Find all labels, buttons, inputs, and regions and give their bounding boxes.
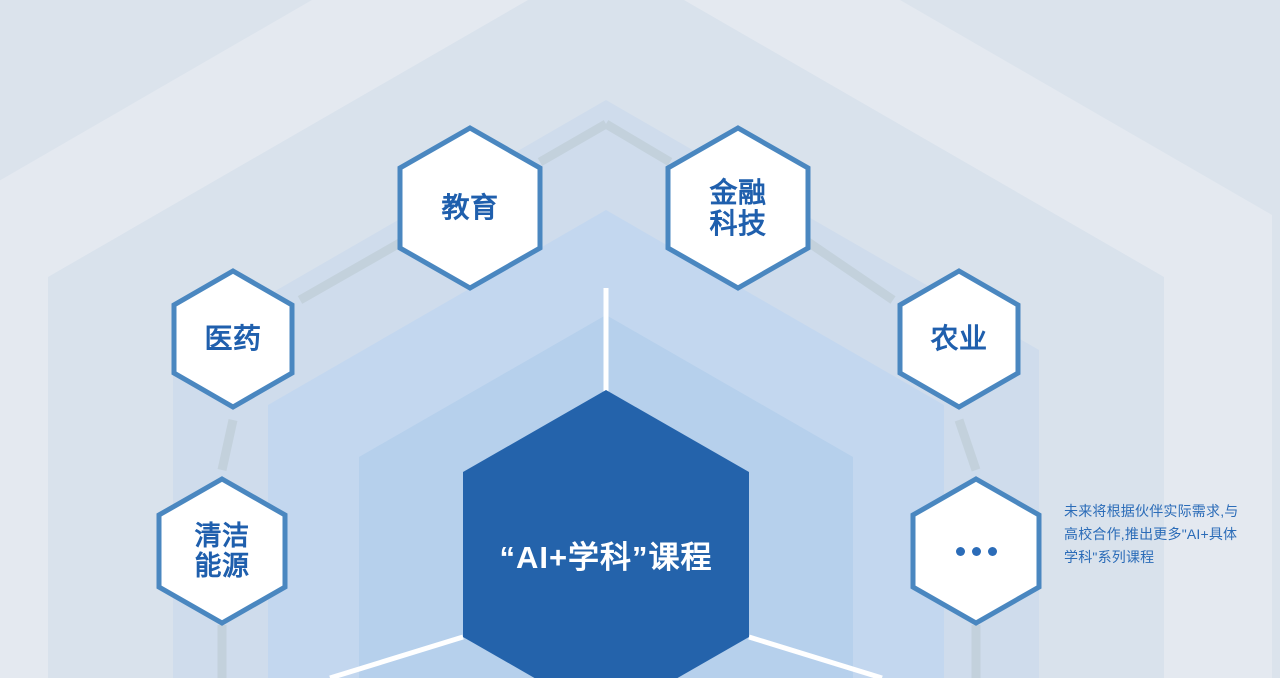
hexagon-label-more-ellipsis bbox=[913, 479, 1039, 623]
ellipsis-dot-2 bbox=[972, 547, 981, 556]
ellipsis-dot-1 bbox=[956, 547, 965, 556]
hexagon-label-agriculture: 农业 bbox=[900, 271, 1018, 407]
node-label-layer: “AI+学科”课程 医药 教育 金融 科技 农业 清洁 能源 未来将根据伙伴实际… bbox=[0, 0, 1280, 678]
hexagon-label-medicine: 医药 bbox=[174, 271, 292, 407]
hexagon-label-clean-energy: 清洁 能源 bbox=[159, 479, 285, 623]
diagram-canvas: “AI+学科”课程 医药 教育 金融 科技 农业 清洁 能源 未来将根据伙伴实际… bbox=[0, 0, 1280, 678]
center-hexagon-label: “AI+学科”课程 bbox=[463, 390, 749, 678]
hexagon-label-education: 教育 bbox=[400, 128, 540, 288]
ellipsis-dot-3 bbox=[988, 547, 997, 556]
future-courses-note: 未来将根据伙伴实际需求,与高校合作,推出更多"AI+具体学科"系列课程 bbox=[1064, 500, 1240, 569]
hexagon-label-fintech: 金融 科技 bbox=[668, 128, 808, 288]
